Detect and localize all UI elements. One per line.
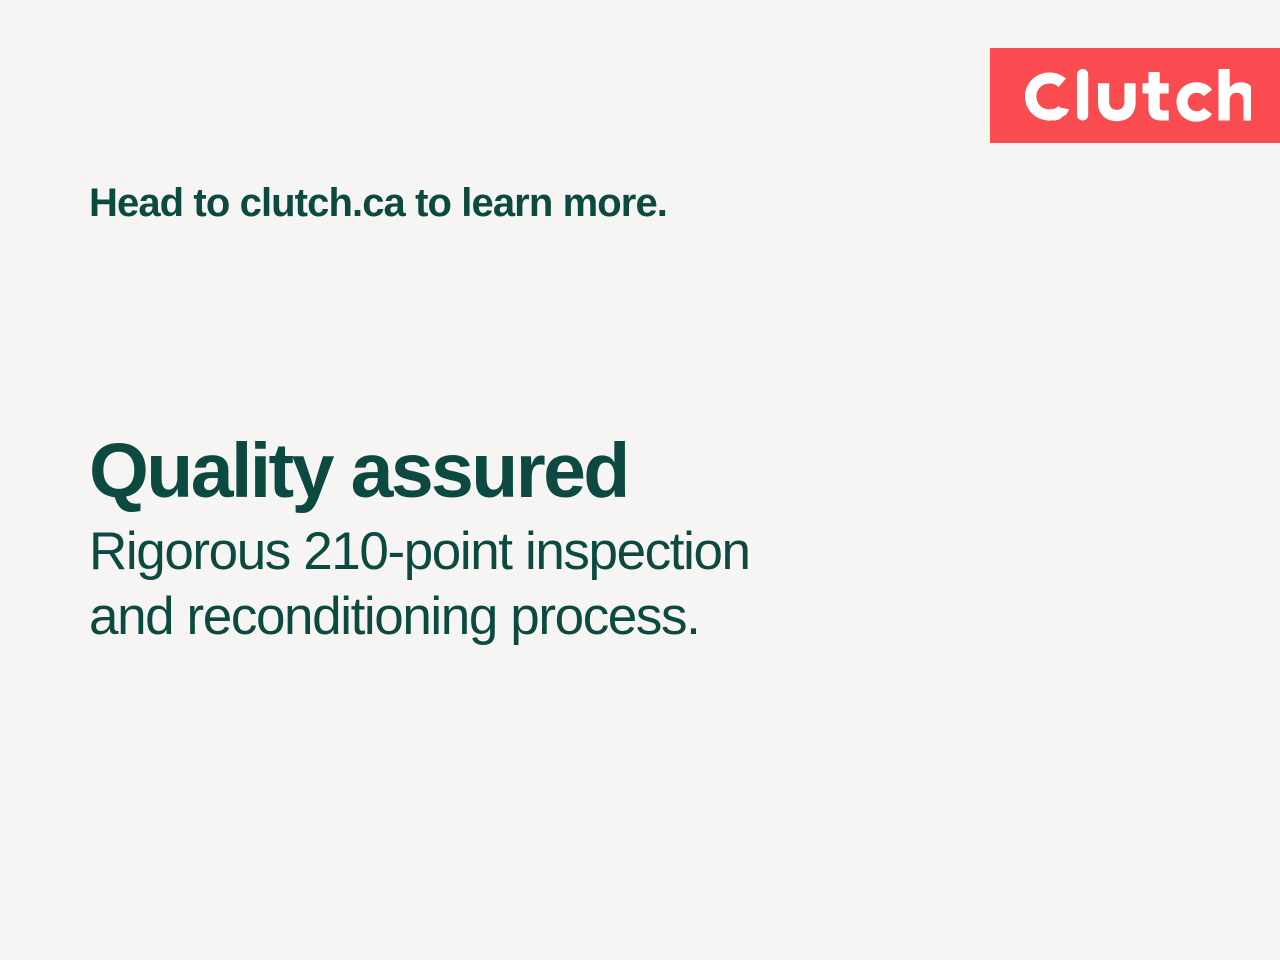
letter-h bbox=[1219, 69, 1252, 121]
headline-block: Quality assured Rigorous 210-point inspe… bbox=[89, 433, 1089, 649]
eyebrow-headline: Head to clutch.ca to learn more. bbox=[89, 179, 667, 227]
letter-l bbox=[1077, 69, 1088, 121]
subtitle-line-2: and reconditioning process. bbox=[89, 585, 1089, 650]
slide-canvas: Head to clutch.ca to learn more. Quality… bbox=[0, 0, 1280, 960]
clutch-c-notch-mark bbox=[1025, 72, 1069, 120]
page-title: Quality assured bbox=[89, 433, 1089, 510]
clutch-brand-badge[interactable] bbox=[990, 48, 1280, 143]
letter-t bbox=[1143, 72, 1169, 121]
subtitle-line-1: Rigorous 210-point inspection bbox=[89, 520, 1089, 585]
clutch-logo bbox=[1019, 65, 1251, 127]
page-subtitle: Rigorous 210-point inspection and recond… bbox=[89, 520, 1089, 649]
letter-u bbox=[1098, 83, 1136, 121]
letter-c bbox=[1177, 82, 1213, 121]
